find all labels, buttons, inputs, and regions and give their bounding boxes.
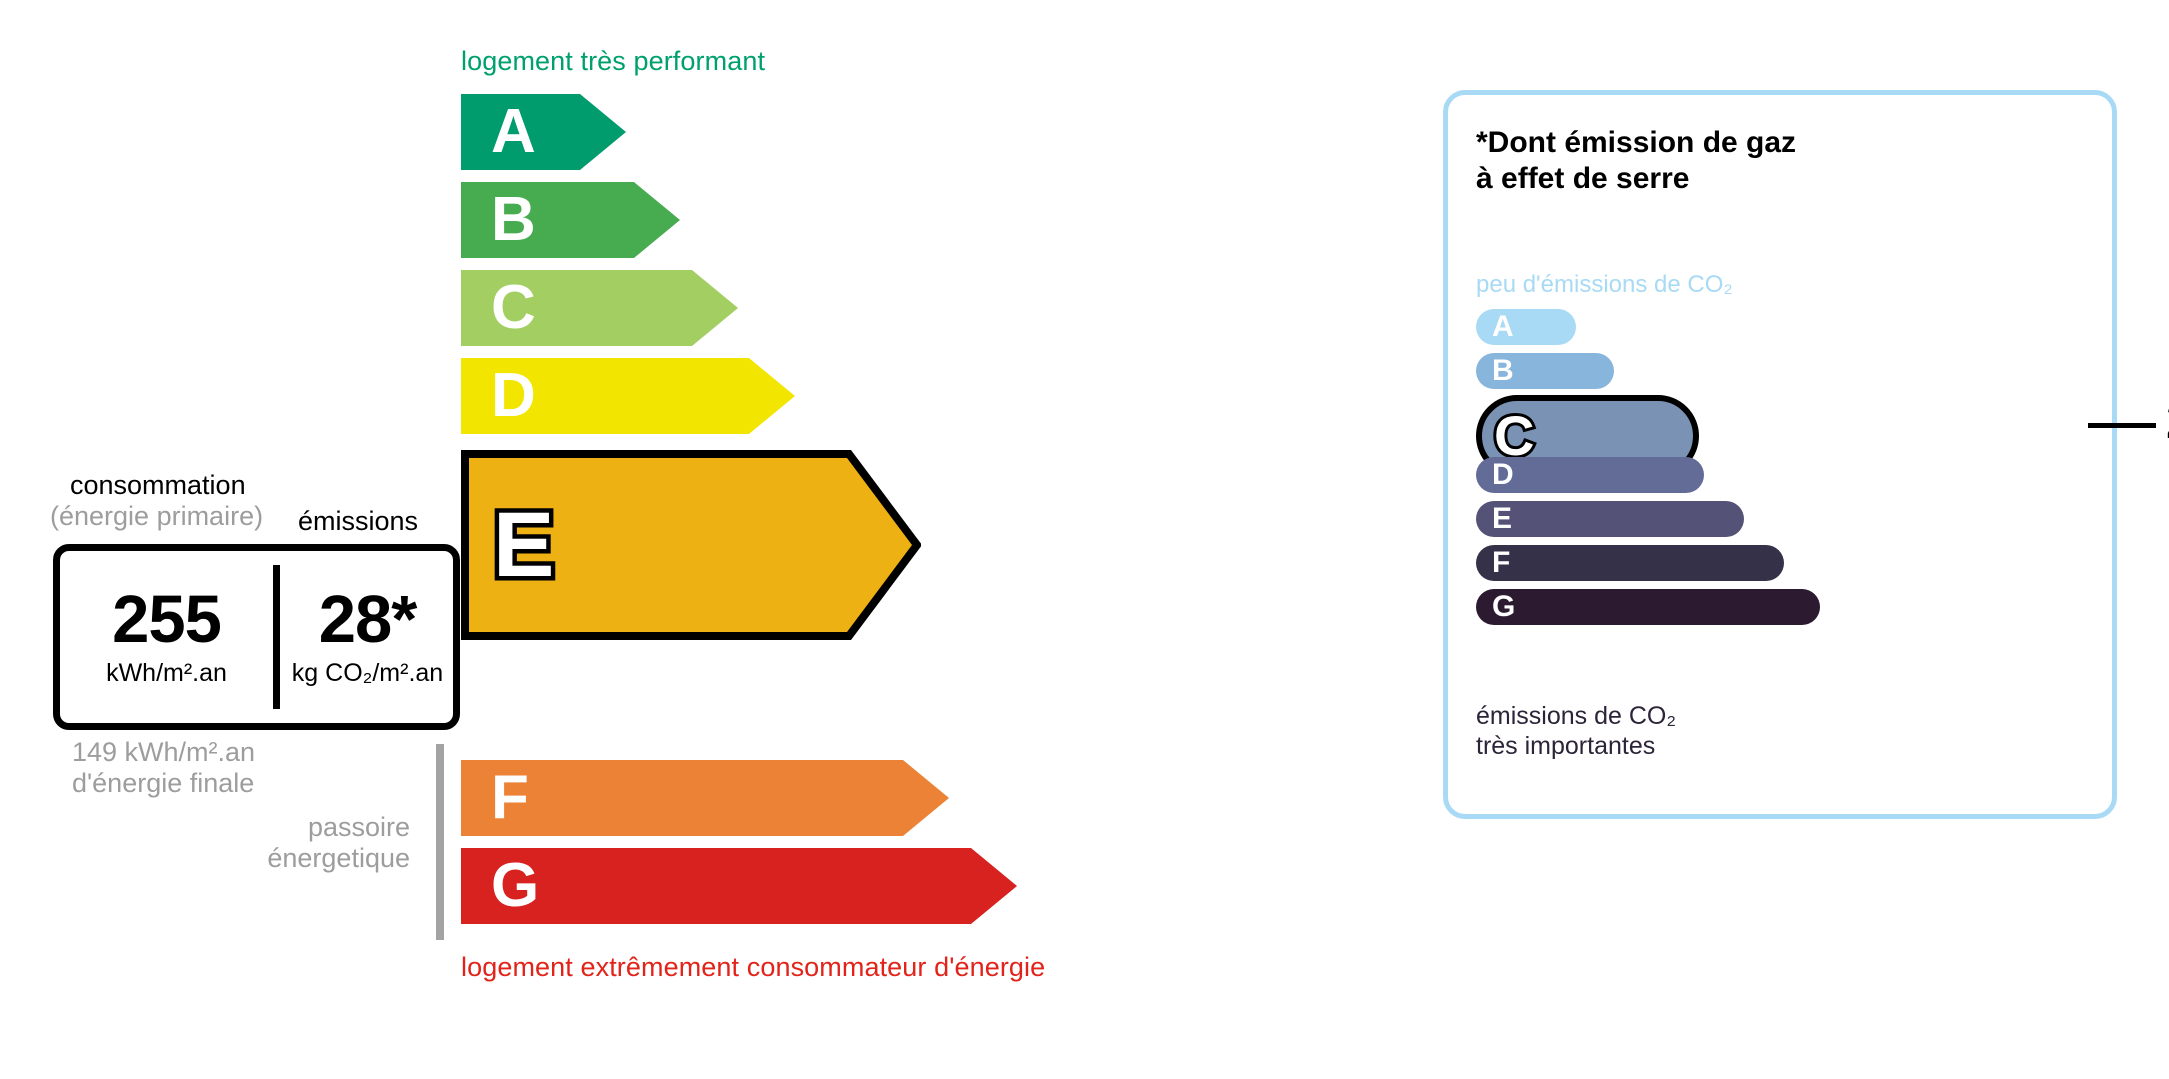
consumption-label: consommation (énergie primaire): [70, 470, 263, 532]
co2-bottom-caption: émissions de CO₂ très importantes: [1476, 701, 1676, 761]
energy-arrow-shape-g: [461, 848, 1017, 924]
co2-class-row-f: F: [1476, 545, 1784, 581]
co2-title-line2: à effet de serre: [1476, 161, 1796, 197]
energy-class-row-b: B: [461, 182, 680, 258]
energy-class-letter-a: A: [491, 101, 536, 163]
energy-class-row-f: F: [461, 760, 949, 836]
co2-bottom-line2: très importantes: [1476, 731, 1676, 761]
energy-top-caption: logement très performant: [461, 46, 765, 77]
co2-class-letter-g: G: [1492, 592, 1515, 622]
energy-class-row-a: A: [461, 94, 626, 170]
energy-bottom-caption: logement extrêmement consommateur d'éner…: [461, 952, 1045, 983]
energy-class-letter-d: D: [491, 365, 536, 427]
co2-class-row-d: D: [1476, 457, 1704, 493]
co2-bottom-line1: émissions de CO₂: [1476, 701, 1676, 731]
energy-class-row-d: D: [461, 358, 795, 434]
co2-title-line1: *Dont émission de gaz: [1476, 125, 1796, 161]
co2-class-row-e: E: [1476, 501, 1744, 537]
energy-class-letter-f: F: [491, 767, 529, 829]
passoire-indicator-line: [436, 744, 444, 940]
energy-class-letter-g: G: [491, 855, 539, 917]
consumption-value-cell: 255 kWh/m².an: [60, 551, 273, 723]
energy-class-row-e: E: [461, 450, 921, 640]
energy-performance-label: logement très performant ABCDEFG consomm…: [0, 0, 1420, 1079]
emissions-label: émissions: [298, 506, 418, 537]
final-energy-line1: 149 kWh/m².an: [72, 737, 255, 768]
passoire-line1: passoire: [160, 812, 410, 843]
co2-class-row-g: G: [1476, 589, 1820, 625]
energy-arrow-shape-a: [461, 94, 626, 170]
passoire-line2: énergetique: [160, 843, 410, 874]
co2-class-letter-e: E: [1492, 504, 1512, 534]
energy-class-row-c: C: [461, 270, 738, 346]
consumption-label-sub: (énergie primaire): [50, 501, 263, 532]
co2-class-row-a: A: [1476, 309, 1576, 345]
co2-leader-line: [2088, 423, 2156, 428]
emissions-value-cell: 28* kg CO₂/m².an: [280, 551, 455, 723]
co2-class-row-b: B: [1476, 353, 1614, 389]
energy-class-row-g: G: [461, 848, 1017, 924]
co2-class-letter-c: C: [1494, 408, 1534, 464]
co2-class-letter-a: A: [1492, 312, 1514, 342]
consumption-label-main: consommation: [70, 470, 246, 500]
value-box-divider: [273, 565, 280, 709]
final-energy-line2: d'énergie finale: [72, 768, 255, 799]
value-box: 255 kWh/m².an 28* kg CO₂/m².an: [53, 544, 460, 730]
energy-arrow-shape-f: [461, 760, 949, 836]
co2-class-letter-f: F: [1492, 548, 1510, 578]
energy-class-letter-b: B: [491, 189, 536, 251]
co2-class-letter-d: D: [1492, 460, 1514, 490]
emissions-value: 28*: [319, 586, 417, 653]
co2-top-caption: peu d'émissions de CO₂: [1476, 271, 1733, 299]
passoire-label: passoire énergetique: [160, 812, 410, 874]
final-energy-note: 149 kWh/m².an d'énergie finale: [72, 737, 255, 799]
consumption-unit: kWh/m².an: [106, 659, 227, 688]
consumption-value: 255: [112, 586, 221, 653]
energy-class-letter-e: E: [493, 499, 554, 591]
co2-panel: *Dont émission de gaz à effet de serre p…: [1443, 90, 2117, 819]
energy-class-letter-c: C: [491, 277, 536, 339]
emissions-unit: kg CO₂/m².an: [292, 659, 443, 688]
co2-class-letter-b: B: [1492, 356, 1514, 386]
co2-panel-title: *Dont émission de gaz à effet de serre: [1476, 125, 1796, 197]
